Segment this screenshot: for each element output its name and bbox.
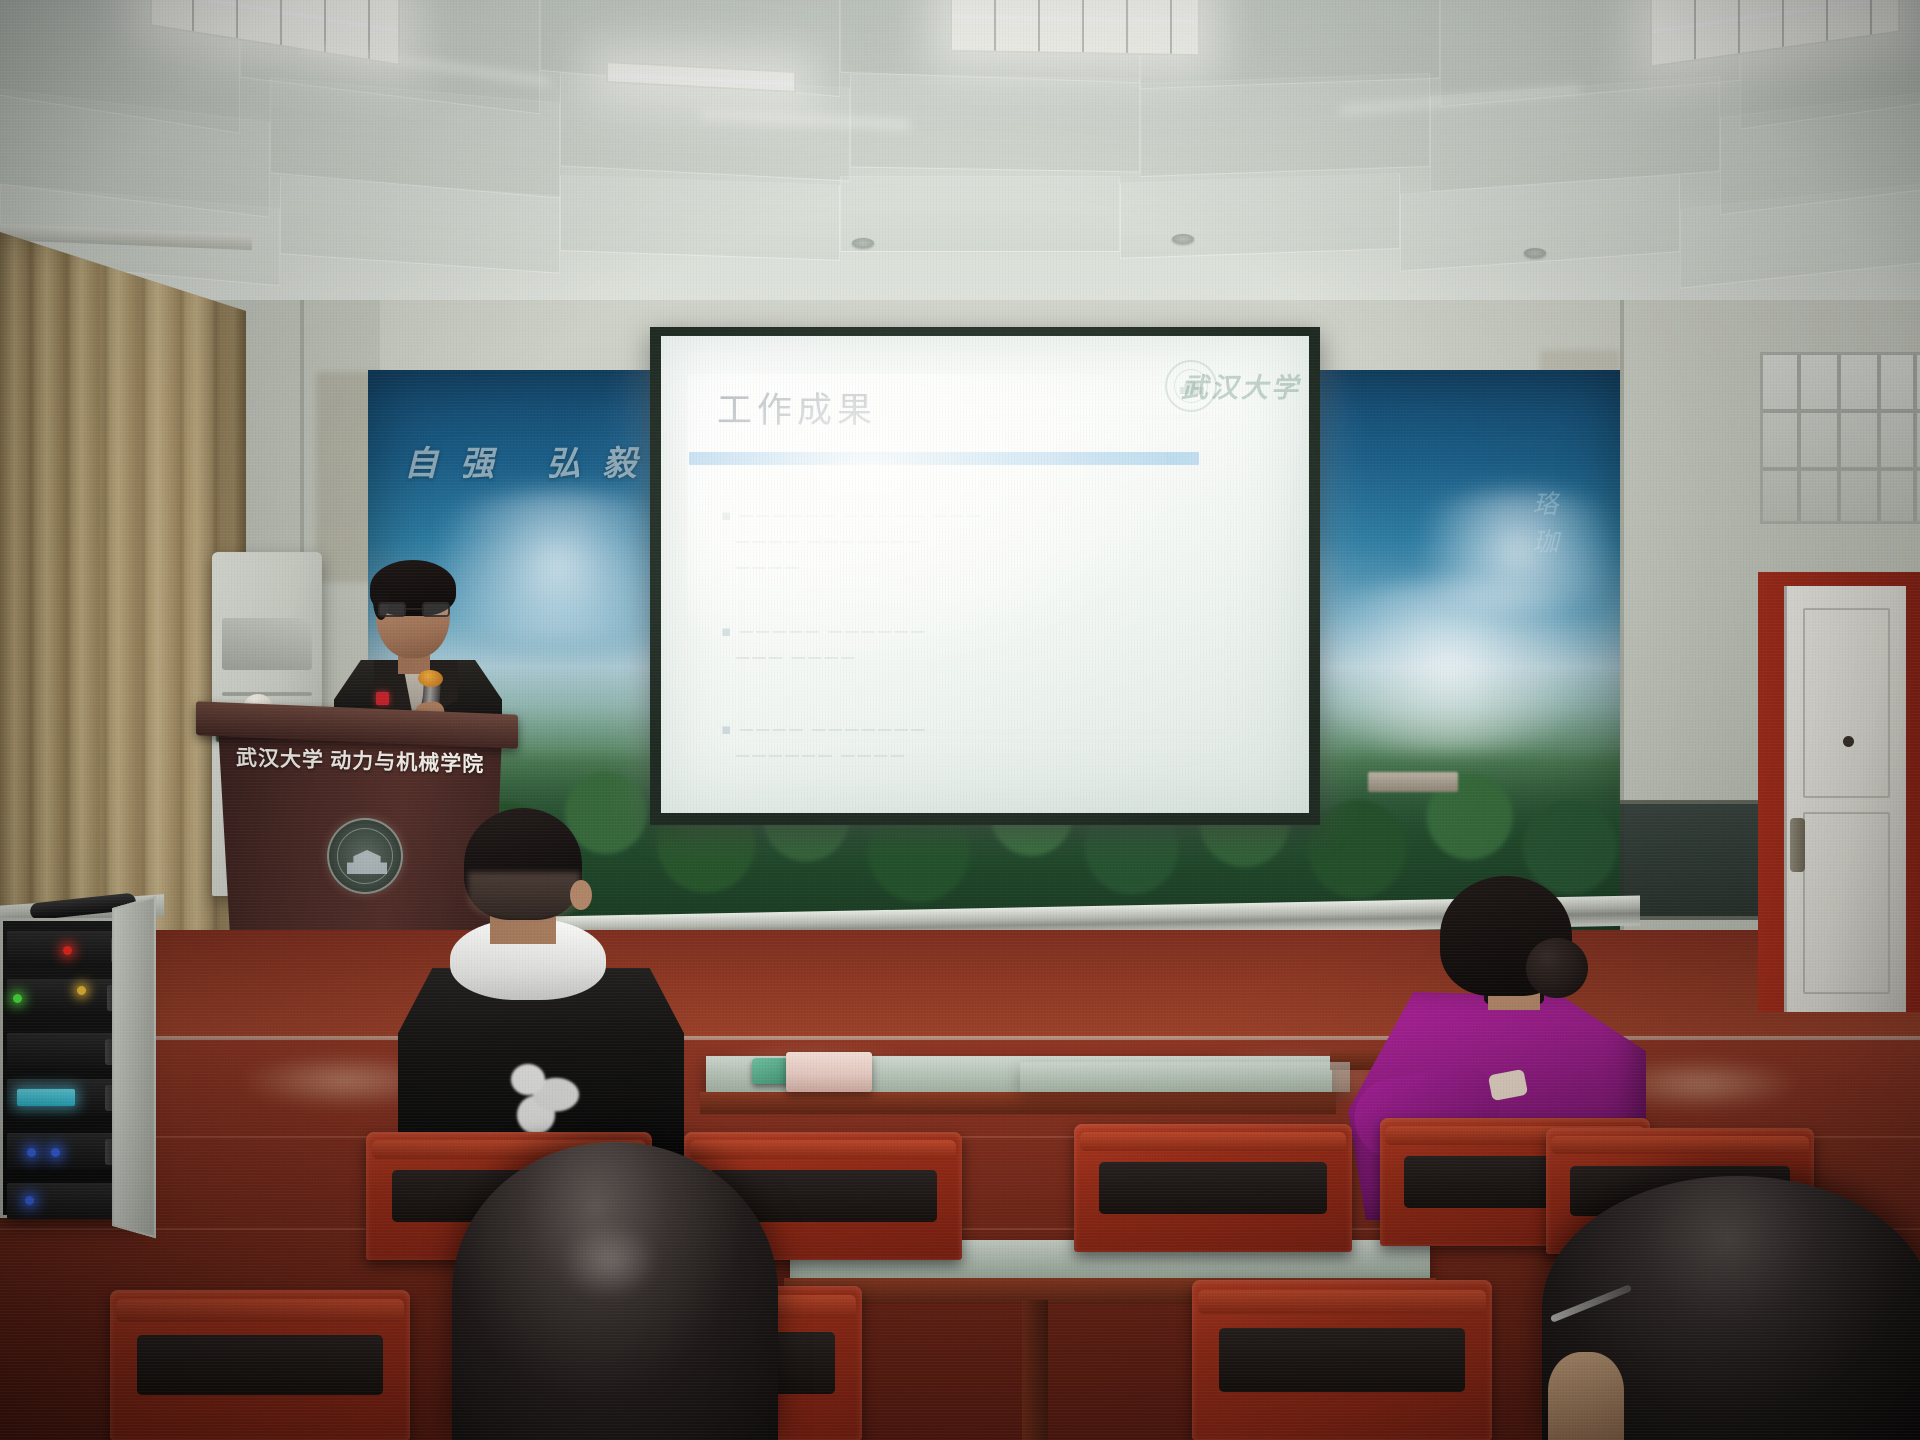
door-peephole-icon [1843,736,1854,747]
woman-hair-bun [1526,938,1588,998]
slide-bullet: ▪ ———— ——————— [721,720,927,738]
channel-led [25,1196,34,1205]
table-edge [700,1092,1336,1114]
student-in-hoodie [398,808,684,1160]
chair[interactable] [1192,1280,1492,1440]
channel-led [27,1148,36,1157]
slide-bullet: ———— ——————— [735,532,923,550]
backdrop-vertical-text: 珞珈 [1525,490,1562,566]
smoke-detector-icon [1524,248,1546,258]
recessed-fluorescent-troffer [950,0,1200,56]
slide-bullet: ▪ —————— ————— ——— [721,506,982,524]
student-ear [570,880,592,910]
smoke-detector-icon [1172,234,1194,244]
presentation-slide: 工作成果 武汉大学 ▪ —————— ————— ——— ———— ——————… [661,336,1309,813]
exit-door[interactable] [1784,586,1906,1012]
chair[interactable] [1074,1124,1352,1252]
door-handle[interactable] [1790,818,1805,872]
slide-title: 工作成果 [717,382,877,433]
booklet-on-table[interactable] [786,1052,872,1092]
foreground-head-left [452,1142,778,1440]
standby-led [77,986,86,995]
projection-screen[interactable]: 工作成果 武汉大学 ▪ —————— ————— ——— ———— ——————… [650,327,1320,825]
foreground-ear-right [1548,1352,1624,1440]
lecture-hall-photo: 自强 弘毅 求是 珞珈 工作成果 武汉大学 ▪ —————— ————— ———… [0,0,1920,1440]
channel-led [51,1148,60,1157]
slide-bullet: ——— ———— [735,648,857,666]
slide-bullet: ▪ ————— —————— [721,622,927,640]
power-led [63,946,72,955]
transom-window [1760,352,1920,524]
chair[interactable] [110,1290,410,1440]
student-hair-fade [468,872,580,922]
suspended-tile-ceiling [0,0,1920,330]
jacket-graphic-print [494,1056,594,1140]
table-leg [1022,1300,1048,1440]
conference-table [1020,1062,1350,1092]
rack-door[interactable] [112,896,156,1239]
lapel-badge [376,692,389,705]
ac-control-panel[interactable] [222,618,312,670]
screen-surface: 工作成果 武汉大学 ▪ —————— ————— ——— ———— ——————… [661,336,1309,813]
eyeglasses-icon [378,602,450,617]
signal-led [13,994,22,1003]
university-gate-seal-icon [327,818,403,894]
slide-logo-text: 武汉大学 [1181,366,1301,405]
slide-accent-rule [689,452,1199,465]
slide-bullet: —————— ———— [735,746,906,764]
smoke-detector-icon [852,238,874,248]
mixer-lcd-readout[interactable] [17,1089,75,1106]
slide-bullet: ———— [735,558,801,576]
